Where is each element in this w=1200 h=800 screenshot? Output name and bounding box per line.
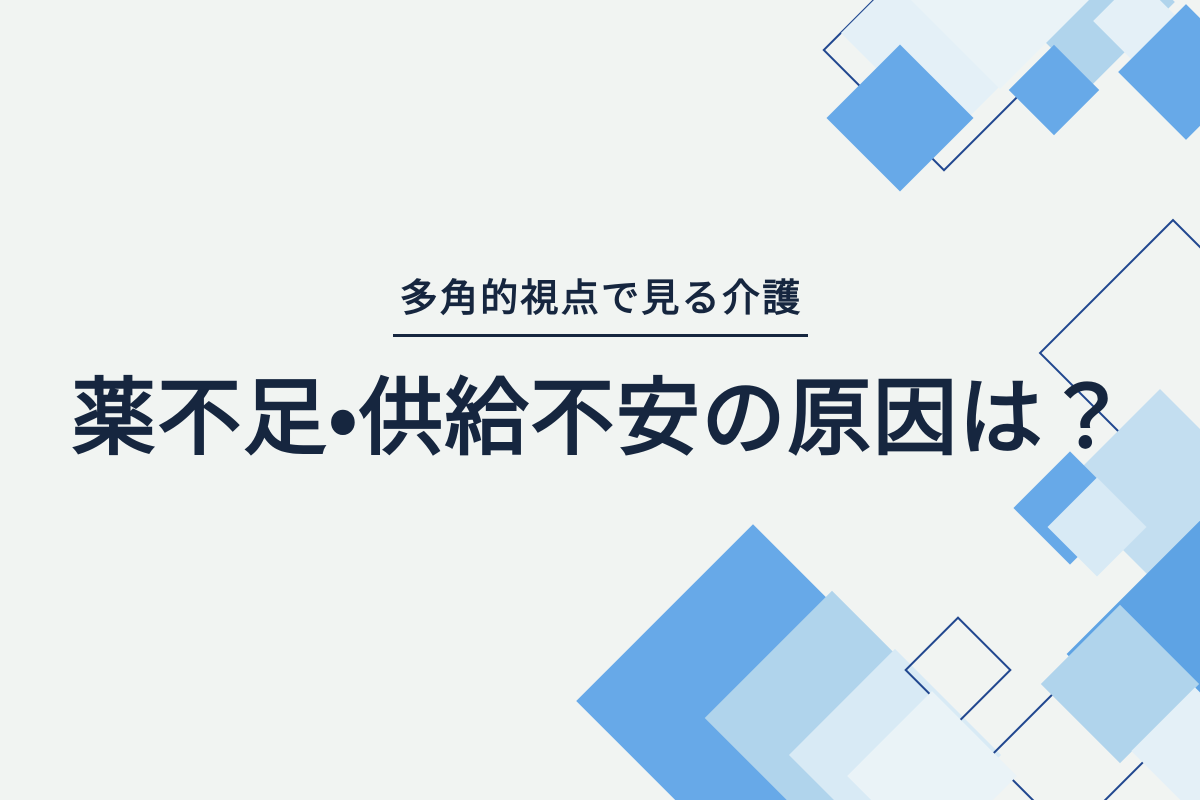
headline-block: 多角的視点で見る介護 薬不足・供給不安の原因は？ [0,0,1200,800]
subtitle-group: 多角的視点で見る介護 [393,277,808,338]
slide-canvas: 多角的視点で見る介護 薬不足・供給不安の原因は？ [0,0,1200,800]
subtitle-underline-rule [393,334,808,337]
page-title: 薬不足・供給不安の原因は？ [70,373,1130,467]
page-subtitle: 多角的視点で見る介護 [397,277,802,323]
